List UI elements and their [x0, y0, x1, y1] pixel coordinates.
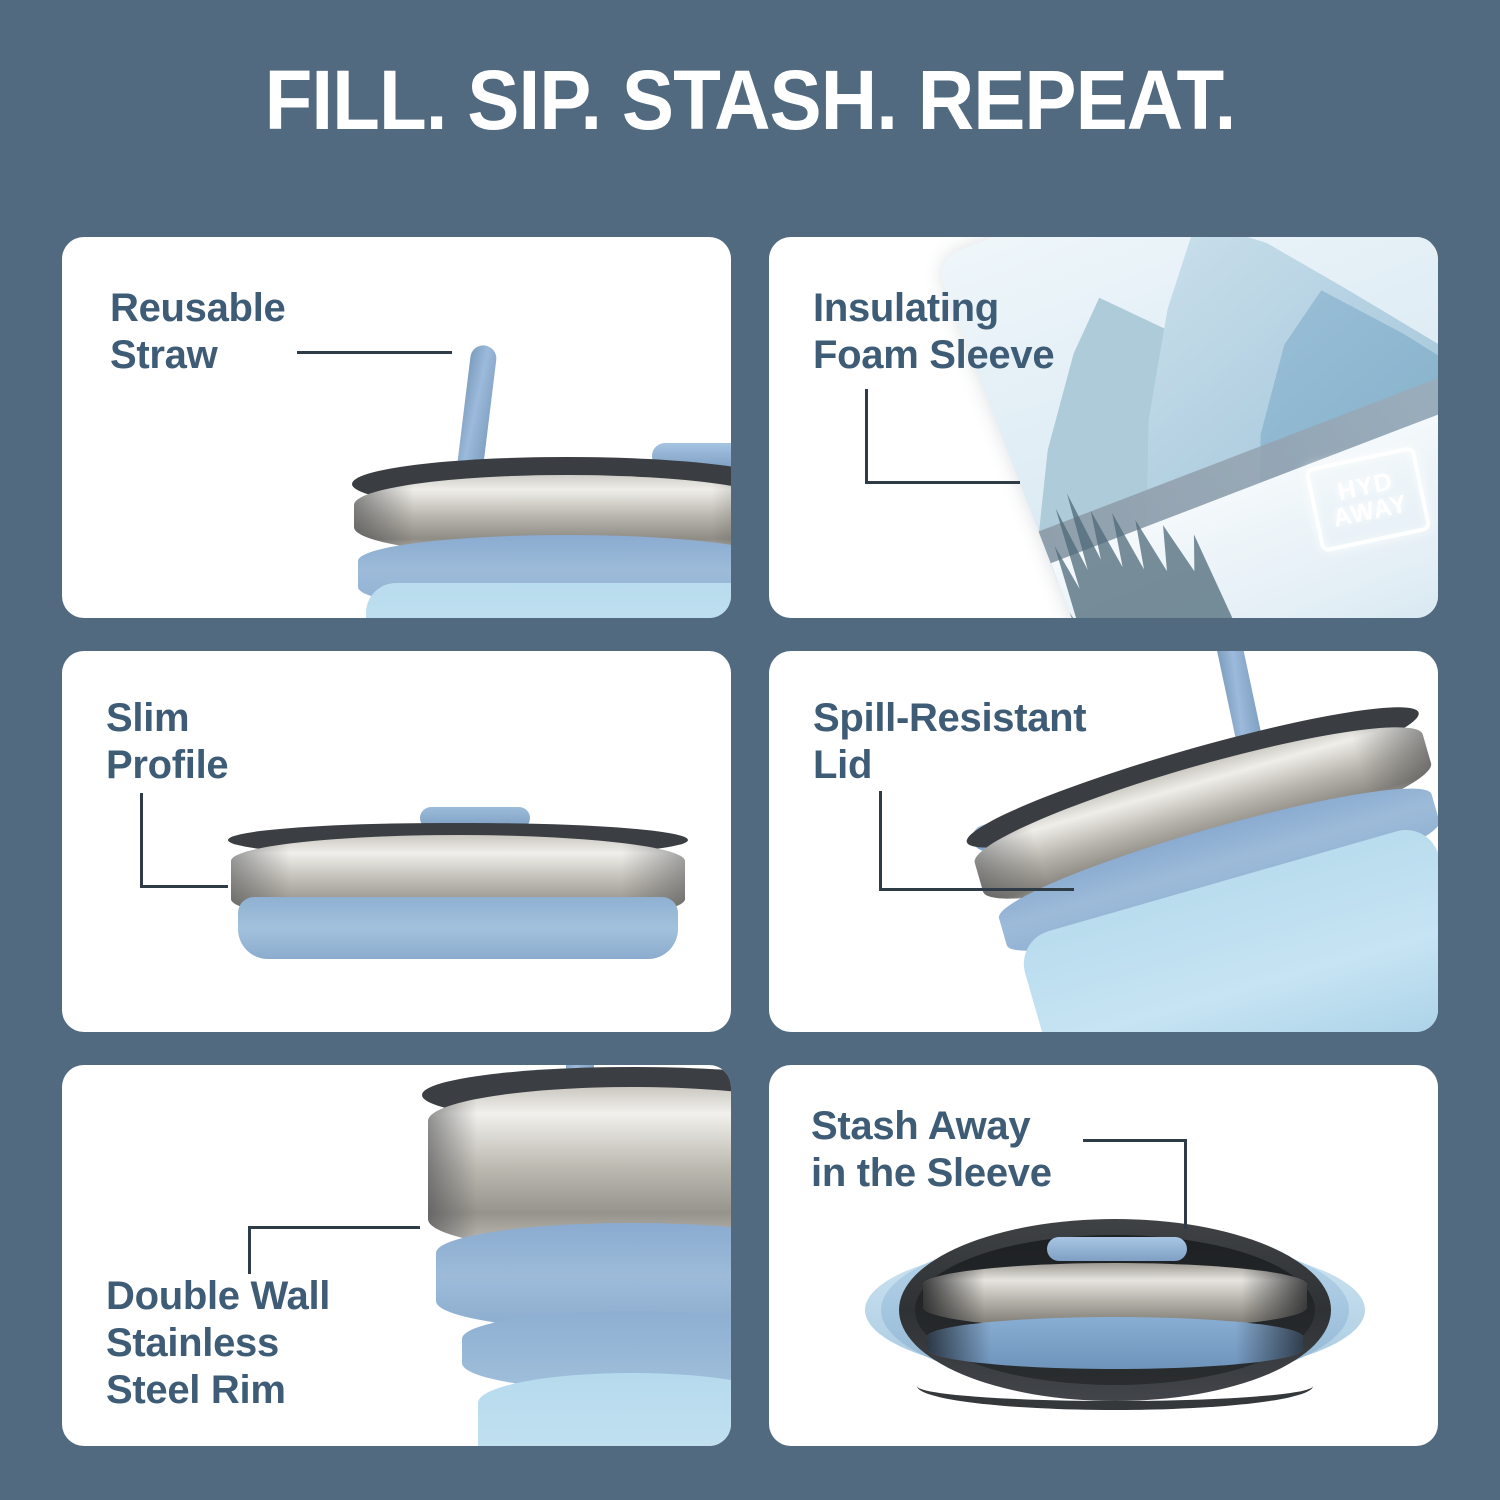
card-label-double-wall-rim: Double Wall Stainless Steel Rim — [106, 1273, 330, 1415]
feature-card-spill-resistant-lid[interactable]: Spill-Resistant Lid — [769, 651, 1438, 1032]
feature-card-grid: Reusable Straw Insulating Foam Sleeve — [62, 237, 1438, 1447]
leader-line-sleeve-vertical — [865, 389, 868, 484]
leader-line-sleeve-horizontal — [865, 481, 1020, 484]
leader-line-rim-horizontal — [248, 1226, 420, 1229]
tumbler-top-illustration — [352, 357, 731, 618]
leader-line-slim-vertical — [140, 793, 143, 888]
infographic-page: FILL. SIP. STASH. REPEAT. Reusable Straw… — [0, 0, 1500, 1500]
card-label-spill-resistant-lid: Spill-Resistant Lid — [813, 695, 1086, 789]
feature-card-stash-away-sleeve[interactable]: Stash Away in the Sleeve — [769, 1065, 1438, 1446]
feature-card-reusable-straw[interactable]: Reusable Straw — [62, 237, 731, 618]
straw-graphic — [456, 344, 498, 476]
card-label-insulating-foam-sleeve: Insulating Foam Sleeve — [813, 285, 1054, 379]
leader-line-rim-vertical — [248, 1226, 251, 1274]
sleeve-strap-graphic — [917, 1355, 1313, 1410]
page-title: FILL. SIP. STASH. REPEAT. — [53, 58, 1448, 142]
leader-line-reusable-straw — [297, 351, 452, 354]
leader-line-stash-horizontal — [1083, 1139, 1187, 1142]
feature-card-double-wall-rim[interactable]: Double Wall Stainless Steel Rim — [62, 1065, 731, 1446]
card-label-stash-away-sleeve: Stash Away in the Sleeve — [811, 1103, 1052, 1197]
leader-line-lid-horizontal — [879, 888, 1074, 891]
tumbler-body-graphic — [366, 583, 731, 618]
feature-card-insulating-foam-sleeve[interactable]: Insulating Foam Sleeve HYD AWAY — [769, 237, 1438, 618]
tumbler-body-graphic — [478, 1373, 731, 1446]
lid-tab-graphic — [1047, 1237, 1187, 1261]
collapsed-tumbler-side-illustration — [228, 809, 688, 959]
leader-line-stash-vertical — [1184, 1139, 1187, 1229]
leader-line-slim-horizontal — [140, 885, 228, 888]
card-label-reusable-straw: Reusable Straw — [110, 285, 285, 379]
base-graphic — [238, 897, 678, 959]
leader-line-lid-vertical — [879, 791, 882, 891]
card-label-slim-profile: Slim Profile — [106, 695, 228, 789]
feature-card-slim-profile[interactable]: Slim Profile — [62, 651, 731, 1032]
double-wall-rim-illustration — [422, 1065, 731, 1446]
stashed-tumbler-illustration — [865, 1213, 1365, 1413]
